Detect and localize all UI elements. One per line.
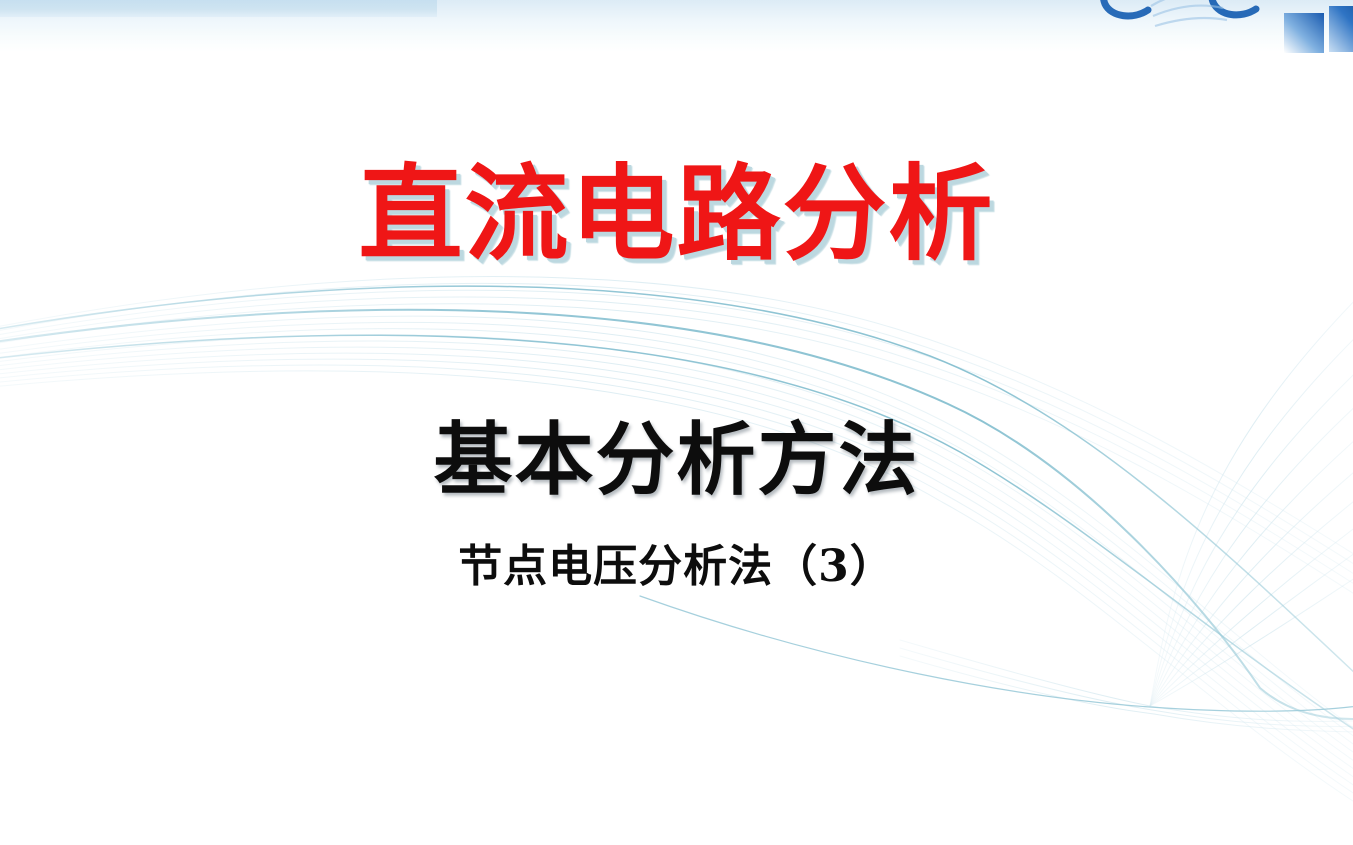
presentation-slide: 直流电路分析 基本分析方法 节点电压分析法（3） [0,0,1353,845]
slide-subtitle: 基本分析方法 [0,412,1353,508]
page-title: 直流电路分析 [0,154,1353,274]
slide-content: 直流电路分析 基本分析方法 节点电压分析法（3） [0,0,1353,845]
slide-topic-line: 节点电压分析法（3） [0,538,1353,596]
